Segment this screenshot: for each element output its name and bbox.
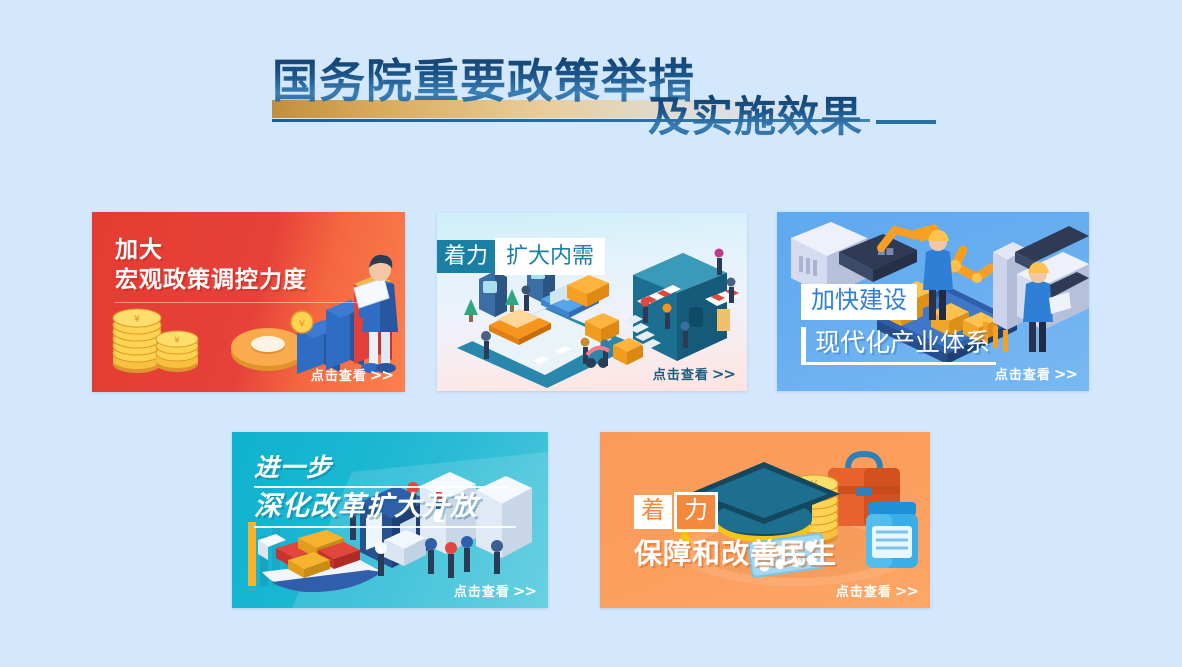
card-domestic-demand-headline-line1: 着力 <box>437 240 495 273</box>
card-reform-opening-cta[interactable]: 点击查看>> <box>454 581 536 600</box>
card-livelihood-headline: 着力 保障和改善民生 <box>634 492 837 568</box>
card-reform-opening-cta-label: 点击查看 <box>454 585 510 600</box>
card-modern-industry-headline: 加快建设 现代化产业体系 <box>801 284 996 365</box>
page-title-line2-text: 及实施效果 <box>648 92 863 141</box>
card-livelihood-headline-line2: 保障和改善民生 <box>634 540 837 568</box>
card-domestic-demand-cta-arrow-icon: >> <box>712 365 735 383</box>
card-reform-opening-headline: 进一步 深化改革扩大开放 <box>254 455 516 528</box>
card-modern-industry[interactable]: ■■ <box>777 212 1089 391</box>
page-title-line1-text: 国务院重要政策举措 <box>272 54 695 108</box>
card-macro-policy-headline: 加大 宏观政策调控力度 <box>115 239 367 303</box>
card-reform-opening-divider-top <box>254 486 508 488</box>
card-reform-opening[interactable]: 进一步 深化改革扩大开放 点击查看>> <box>232 432 548 608</box>
card-livelihood-headline-line1a: 着 <box>634 495 672 529</box>
card-reform-opening-headline-line1: 进一步 <box>254 455 516 480</box>
card-domestic-demand-cta-label: 点击查看 <box>653 368 709 383</box>
page-title-line2: 及实施效果 <box>648 96 863 138</box>
card-macro-policy-cta-label: 点击查看 <box>311 369 367 384</box>
card-domestic-demand-cta[interactable]: 点击查看>> <box>653 364 735 383</box>
card-livelihood-cta[interactable]: 点击查看>> <box>836 581 918 600</box>
card-macro-policy-headline-line1: 加大 <box>115 239 367 262</box>
card-modern-industry-cta-arrow-icon: >> <box>1054 365 1077 383</box>
card-modern-industry-headline-line1: 加快建设 <box>801 284 917 320</box>
card-reform-opening-cta-arrow-icon: >> <box>513 582 536 600</box>
card-domestic-demand-headline-line2: 扩大内需 <box>495 238 605 275</box>
page-title-line1: 国务院重要政策举措 <box>272 58 695 104</box>
card-modern-industry-cta-label: 点击查看 <box>995 368 1051 383</box>
card-macro-policy-divider <box>115 302 367 303</box>
card-livelihood-cta-label: 点击查看 <box>836 585 892 600</box>
card-macro-policy[interactable]: ¥ ¥ <box>92 212 405 392</box>
card-macro-policy-cta-arrow-icon: >> <box>370 366 393 384</box>
card-macro-policy-headline-line2: 宏观政策调控力度 <box>115 269 367 292</box>
card-modern-industry-headline-line2: 现代化产业体系 <box>801 327 996 365</box>
card-livelihood-cta-arrow-icon: >> <box>895 582 918 600</box>
card-livelihood-headline-line1b: 力 <box>674 492 718 532</box>
card-macro-policy-cta[interactable]: 点击查看>> <box>311 365 393 384</box>
card-livelihood[interactable]: ¥ ¥ <box>600 432 930 608</box>
page-header: 国务院重要政策举措 及实施效果 <box>0 0 1182 180</box>
card-domestic-demand[interactable]: 着力扩大内需 点击查看>> <box>437 213 747 391</box>
card-reform-opening-headline-line2: 深化改革扩大开放 <box>254 493 516 520</box>
title-dash-icon <box>876 120 936 124</box>
card-modern-industry-cta[interactable]: 点击查看>> <box>995 364 1077 383</box>
card-reform-opening-divider-bottom <box>254 526 516 528</box>
card-domestic-demand-headline: 着力扩大内需 <box>437 238 605 275</box>
